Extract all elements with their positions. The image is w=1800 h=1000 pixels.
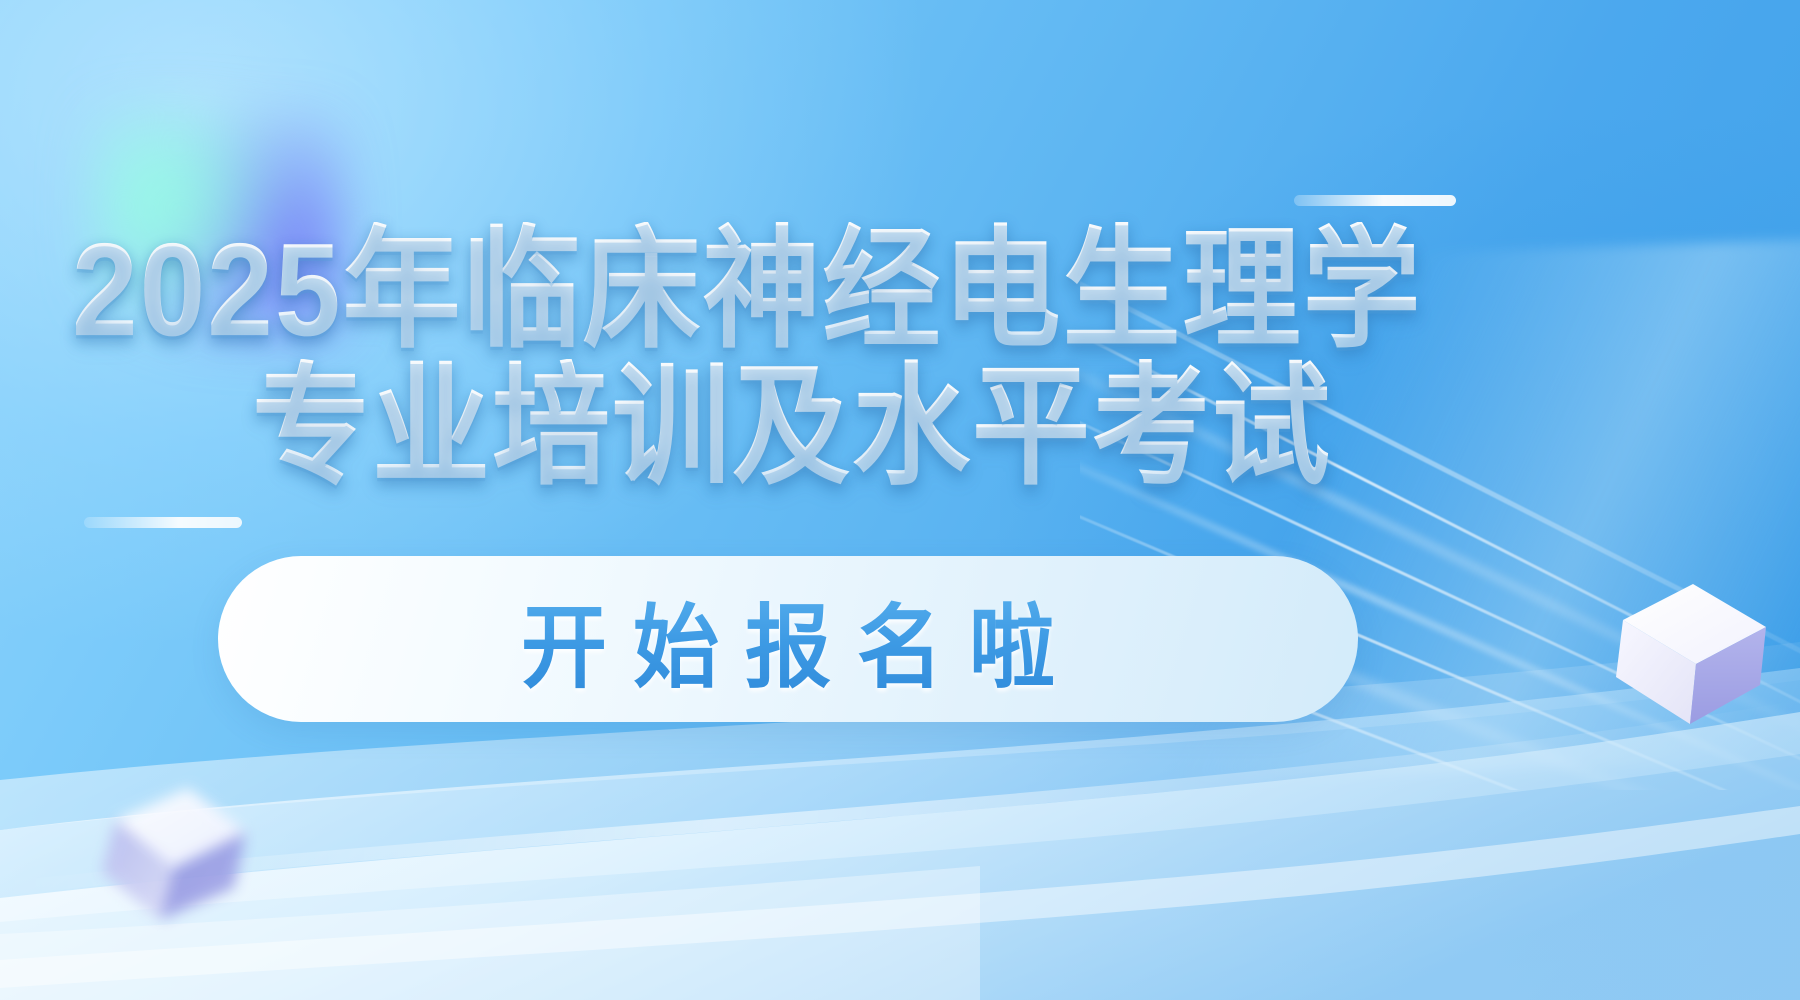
dash-mark-left-icon: [84, 517, 242, 528]
cube-3d-bottom-left-icon: [86, 780, 276, 950]
dash-mark-top-right-icon: [1294, 195, 1456, 206]
registration-cta-button[interactable]: 开始报名啦: [218, 556, 1358, 722]
banner-title: 2025年临床神经电生理学 专业培训及水平考试: [0, 222, 1800, 481]
title-line-1: 2025年临床神经电生理学: [72, 222, 1800, 359]
cube-3d-top-right-icon: [1598, 572, 1788, 737]
title-line-2: 专业培训及水平考试: [252, 359, 1800, 496]
registration-cta-label: 开始报名啦: [495, 573, 1081, 706]
promo-banner: 2025年临床神经电生理学 专业培训及水平考试 开始报名啦: [0, 0, 1800, 1000]
